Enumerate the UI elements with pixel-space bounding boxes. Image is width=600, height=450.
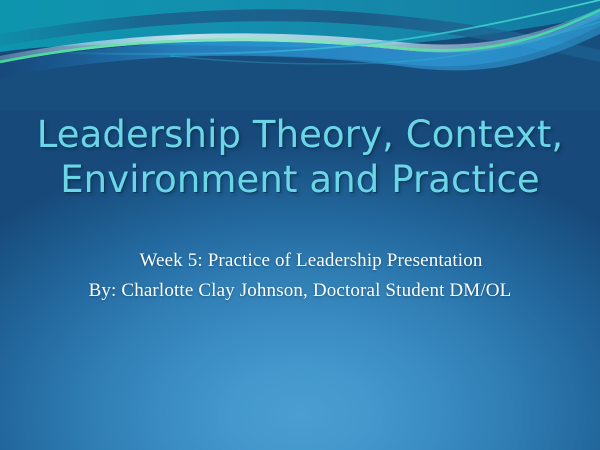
swoosh-navy-ribbon [0, 9, 600, 62]
subtitle-presenter-credit: By: Charlotte Clay Johnson, Doctoral Stu… [10, 276, 590, 306]
swoosh-cyan-tail [0, 0, 600, 54]
slide-title: Leadership Theory, Context, Environment … [0, 112, 600, 202]
slide-subtitle: Week 5: Practice of Leadership Presentat… [0, 246, 600, 306]
subtitle-week-and-topic: Week 5: Practice of Leadership Presentat… [10, 246, 590, 276]
swoosh-teal-field [0, 0, 600, 52]
slide-title-line-1: Leadership Theory, Context, [18, 112, 582, 157]
slide-title-line-2: Environment and Practice [18, 157, 582, 202]
swoosh-lower-shadow [0, 26, 600, 110]
title-slide: Leadership Theory, Context, Environment … [0, 0, 600, 450]
swoosh-blue-band [0, 12, 600, 78]
decorative-swoosh-banner [0, 0, 600, 110]
swoosh-pale-highlight [0, 8, 600, 62]
swoosh-secondary-cyan-stroke [170, 22, 600, 64]
swoosh-graphic [0, 0, 600, 110]
swoosh-mint-accent-line [0, 10, 600, 62]
